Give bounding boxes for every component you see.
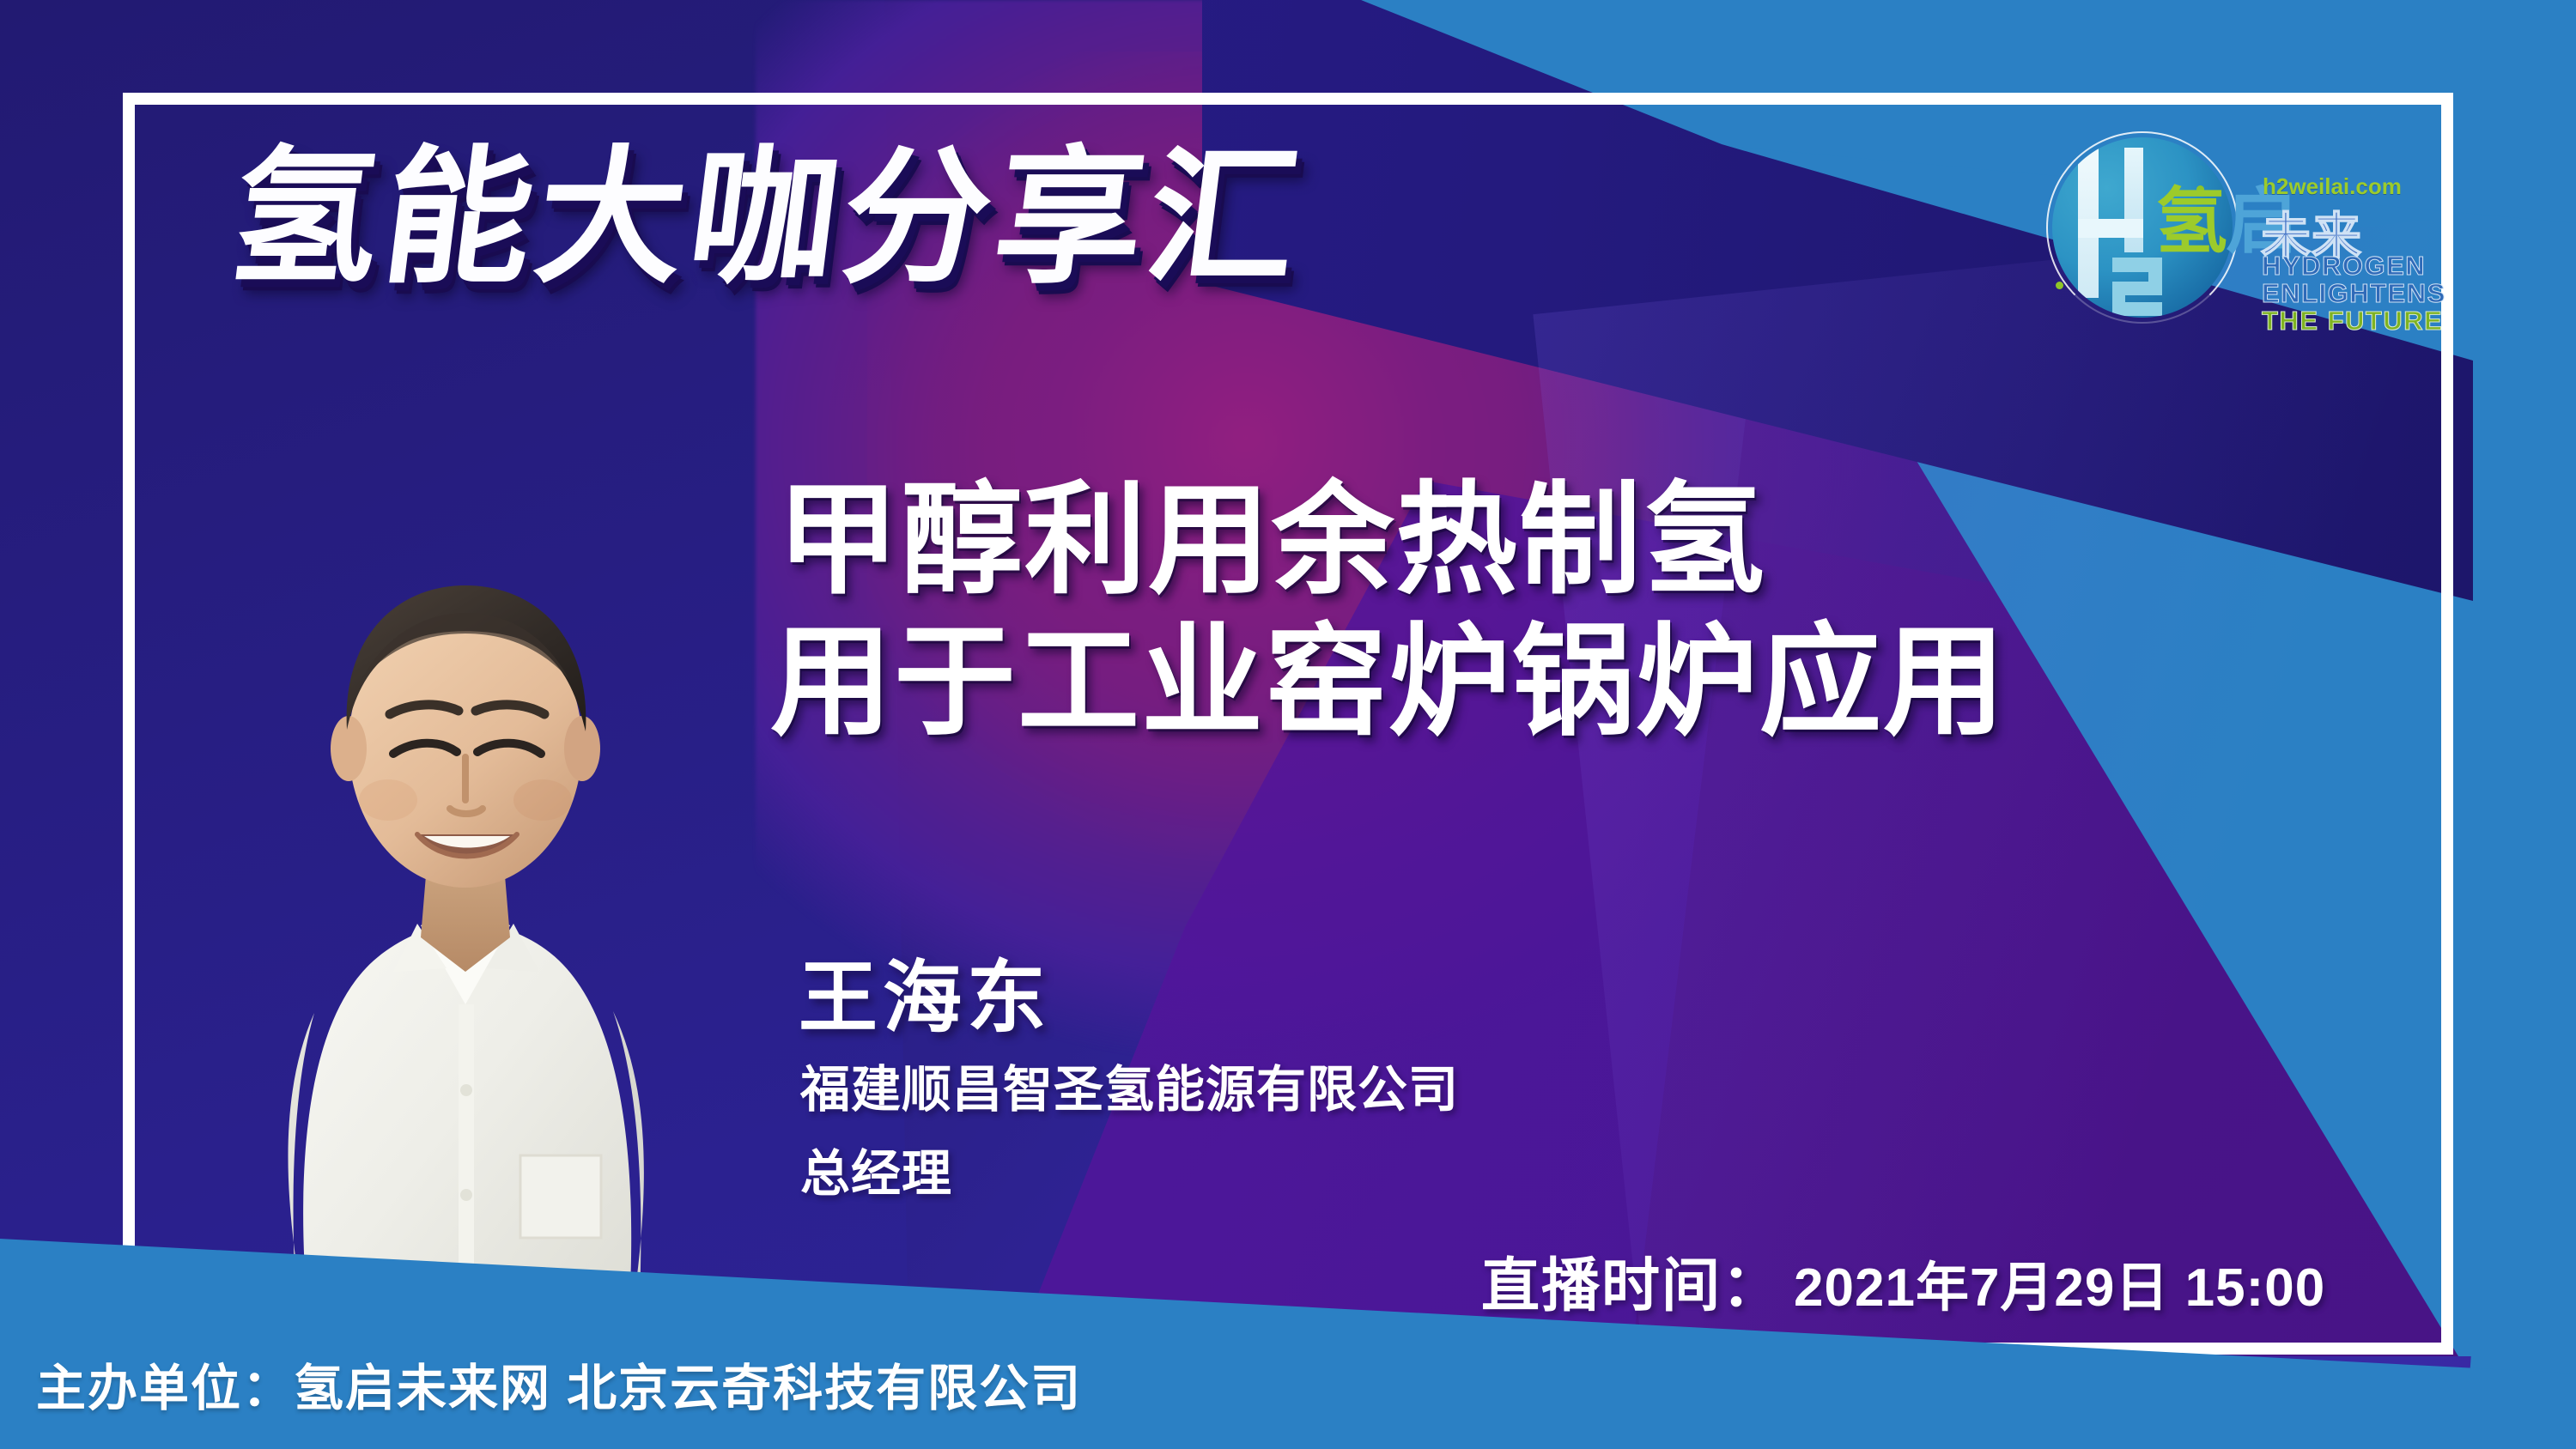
presentation-title-line-2: 用于工业窑炉锅炉应用 <box>770 612 2434 754</box>
presentation-title: 甲醇利用余热制氢 用于工业窑炉锅炉应用 <box>777 470 2434 753</box>
webinar-poster: 氢能大咖分享汇 氢启 h2weilai.com 未来 HYDROGEN ENLI… <box>0 0 2576 1449</box>
brand-logo: 氢启 h2weilai.com 未来 HYDROGEN ENLIGHTENS T… <box>2052 137 2413 369</box>
logo-tagline-line-1: HYDROGEN <box>2262 251 2426 282</box>
speaker-portrait <box>163 412 764 1348</box>
speaker-company: 福建顺昌智圣氢能源有限公司 <box>800 1049 1459 1121</box>
broadcast-time: 直播时间： 2021年7月29日 15:00 <box>1481 1238 2325 1323</box>
logo-brand-char-qing: 氢 <box>2155 181 2226 262</box>
logo-orbit-dot-icon <box>2056 282 2063 289</box>
broadcast-time-label: 直播时间： <box>1481 1238 1782 1323</box>
logo-tagline-line-2: ENLIGHTENS <box>2262 278 2446 309</box>
page-title: 氢能大咖分享汇 <box>222 144 1310 292</box>
presentation-title-line-1: 甲醇利用余热制氢 <box>777 470 2434 612</box>
speaker-name: 王海东 <box>799 934 1051 1048</box>
organizer-text: 主办单位：氢启未来网 北京云奇科技有限公司 <box>36 1348 1082 1420</box>
speaker-role: 总经理 <box>800 1133 952 1205</box>
broadcast-time-value: 2021年7月29日 15:00 <box>1794 1244 2325 1321</box>
logo-tagline-line-3: THE FUTURE <box>2262 306 2443 336</box>
